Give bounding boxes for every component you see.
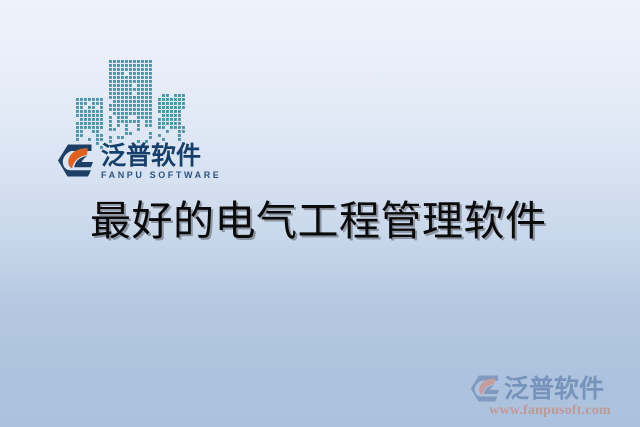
fanpu-logo-mark-icon: [57, 144, 94, 177]
watermark-logo-row: 泛普软件: [470, 375, 630, 402]
slide-canvas: 泛普软件 FANPU SOFTWARE 最好的电气工程管理软件 泛普软件 www…: [0, 0, 640, 427]
fanpu-logo-mark-watermark-icon: [470, 375, 500, 402]
brand-text-block: 泛普软件 FANPU SOFTWARE: [101, 143, 221, 181]
watermark-brand-name: 泛普软件: [504, 375, 604, 402]
page-title: 最好的电气工程管理软件: [90, 196, 547, 246]
brand-lockup: 泛普软件 FANPU SOFTWARE: [57, 143, 221, 181]
brand-name-en: FANPU SOFTWARE: [101, 170, 221, 181]
brand-name-cn: 泛普软件: [101, 143, 221, 169]
watermark-url: www.fanpusoft.com: [470, 403, 630, 419]
pixel-city-skyline-icon: [76, 58, 186, 150]
watermark: 泛普软件 www.fanpusoft.com: [470, 375, 630, 419]
